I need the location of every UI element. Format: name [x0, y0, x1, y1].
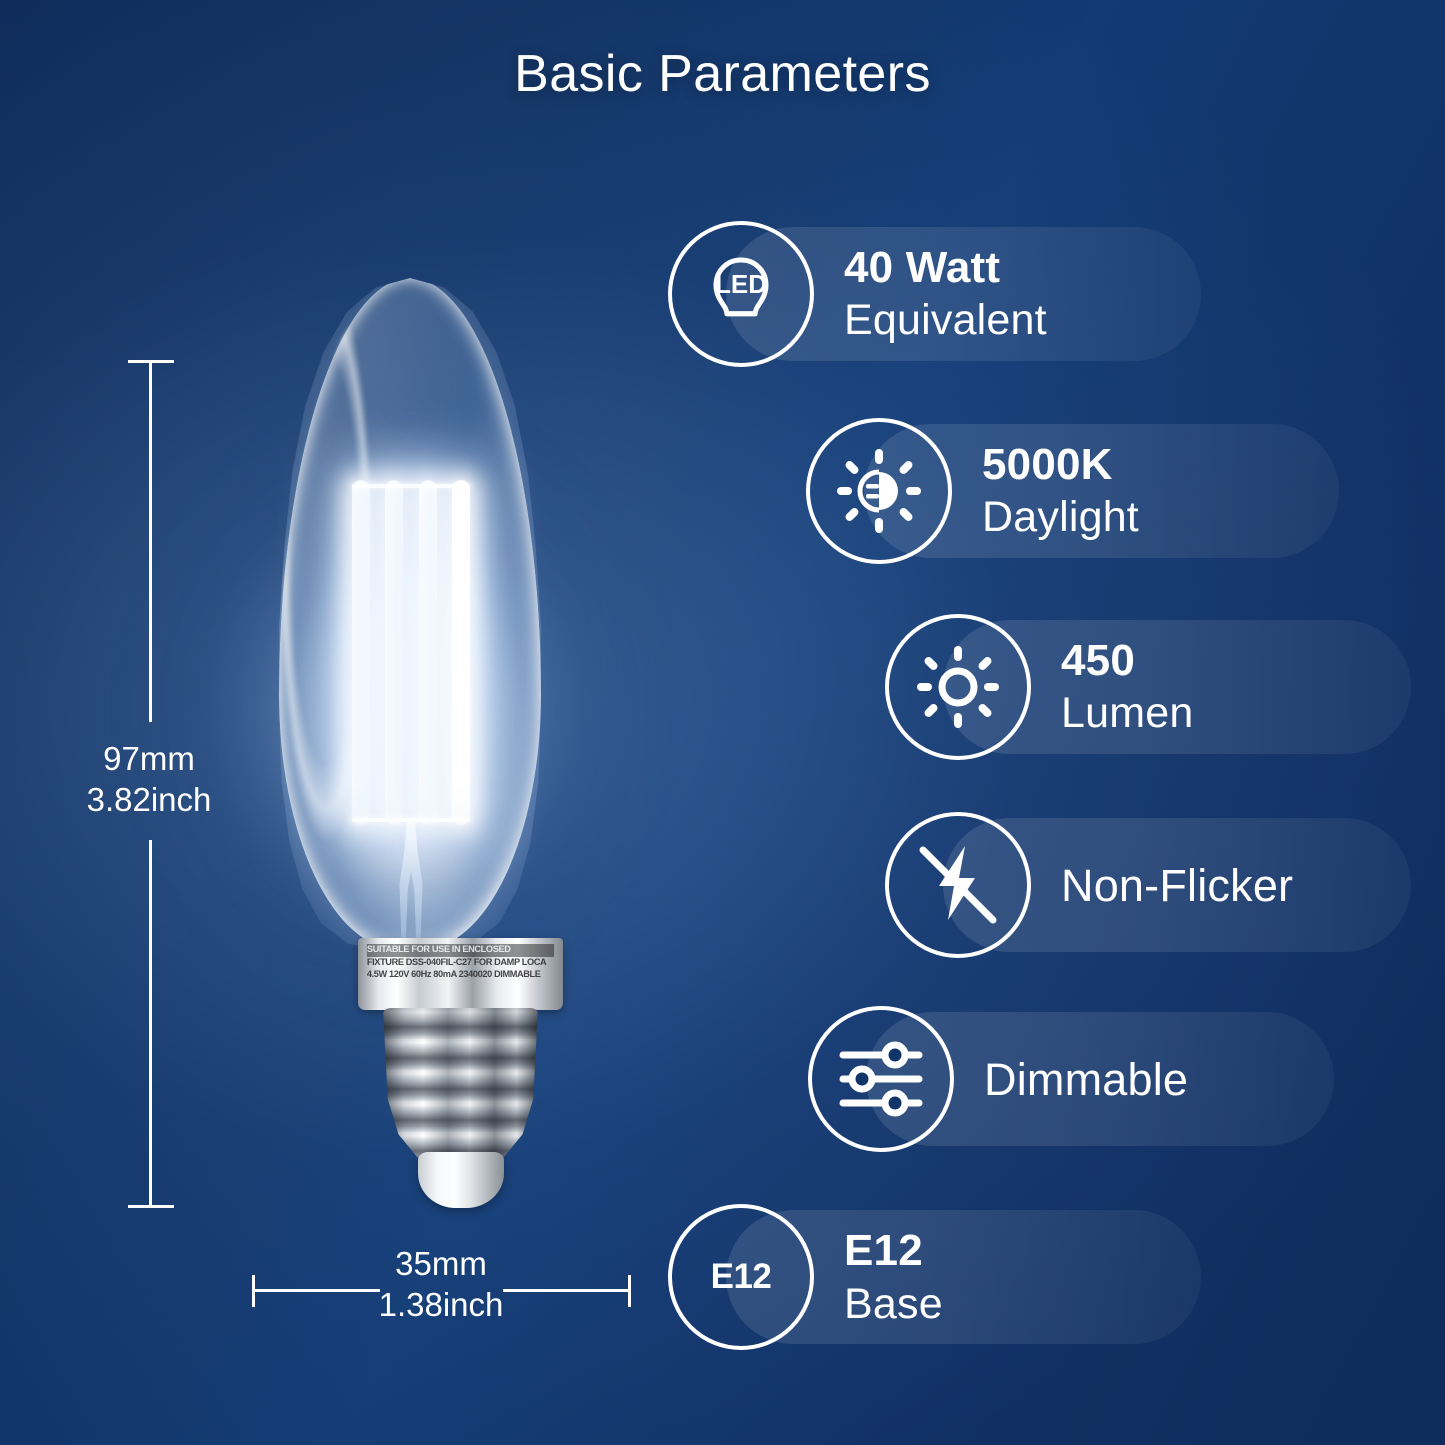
bulb-base-collar: SUITABLE FOR USE IN ENCLOSED FIXTURE DSS…	[358, 938, 563, 1010]
no-flicker-icon	[885, 812, 1031, 958]
base-print-line: 4.5W 120V 60Hz 80mA 2340020 DIMMABLE	[367, 969, 554, 982]
dimmer-slider-icon	[808, 1006, 954, 1152]
feature-primary: 450	[1061, 635, 1193, 687]
feature-row-color-temperature[interactable]: 5000K Daylight	[806, 418, 1346, 564]
infographic-canvas: Basic Parameters SUITABLE FOR USE IN ENC…	[0, 0, 1445, 1445]
led-bulb-icon: LED	[668, 221, 814, 367]
e12-base-icon: E12	[668, 1204, 814, 1350]
feature-row-lumen[interactable]: 450 Lumen	[885, 614, 1425, 760]
feature-labels: 450 Lumen	[1061, 635, 1193, 740]
feature-primary: 40 Watt	[844, 242, 1047, 294]
feature-row-wattage[interactable]: LED 40 Watt Equivalent	[668, 221, 1208, 367]
base-print-text: SUITABLE FOR USE IN ENCLOSED FIXTURE DSS…	[361, 944, 560, 982]
e12-icon-text: E12	[711, 1257, 772, 1297]
feature-primary: Dimmable	[984, 1052, 1188, 1107]
bulb-base-tip	[418, 1152, 504, 1208]
base-print-line: SUITABLE FOR USE IN ENCLOSED	[367, 944, 554, 957]
feature-labels: Non-Flicker	[1061, 858, 1293, 913]
color-temperature-icon	[806, 418, 952, 564]
feature-labels: Dimmable	[984, 1052, 1188, 1107]
height-dim-line-upper	[149, 360, 152, 722]
led-filament-group	[352, 480, 470, 825]
feature-row-base[interactable]: E12 E12 Base	[668, 1204, 1208, 1350]
bulb-illustration: SUITABLE FOR USE IN ENCLOSED FIXTURE DSS…	[0, 0, 680, 1445]
feature-row-dimmable[interactable]: Dimmable	[808, 1006, 1348, 1152]
feature-secondary: Daylight	[982, 491, 1139, 544]
height-dim-line-lower	[149, 840, 152, 1208]
feature-secondary: Equivalent	[844, 294, 1047, 347]
base-print-line: FIXTURE DSS-040FIL-C27 FOR DAMP LOCA	[367, 957, 554, 970]
feature-secondary: Lumen	[1061, 687, 1193, 740]
width-inch: 1.38inch	[316, 1284, 566, 1325]
feature-row-non-flicker[interactable]: Non-Flicker	[885, 812, 1425, 958]
height-inch: 3.82inch	[24, 779, 274, 820]
filament-lead-wire-top	[352, 484, 470, 488]
height-dim-cap-bottom	[128, 1205, 174, 1208]
feature-labels: 5000K Daylight	[982, 439, 1139, 544]
height-mm: 97mm	[24, 738, 274, 779]
width-mm: 35mm	[316, 1243, 566, 1284]
feature-labels: E12 Base	[844, 1224, 943, 1331]
feature-primary: Non-Flicker	[1061, 858, 1293, 913]
feature-primary: E12	[844, 1224, 943, 1278]
led-icon-text: LED	[715, 269, 767, 299]
led-filament	[352, 480, 370, 825]
led-filament	[385, 480, 403, 825]
feature-primary: 5000K	[982, 439, 1139, 491]
feature-secondary: Base	[844, 1278, 943, 1331]
led-filament	[419, 480, 437, 825]
brightness-icon	[885, 614, 1031, 760]
bulb-screw-threads	[383, 1008, 538, 1170]
led-filament	[452, 480, 470, 825]
width-dimension-label: 35mm 1.38inch	[316, 1243, 566, 1325]
feature-labels: 40 Watt Equivalent	[844, 242, 1047, 347]
width-dim-cap-right	[628, 1275, 631, 1307]
height-dimension-label: 97mm 3.82inch	[24, 738, 274, 820]
